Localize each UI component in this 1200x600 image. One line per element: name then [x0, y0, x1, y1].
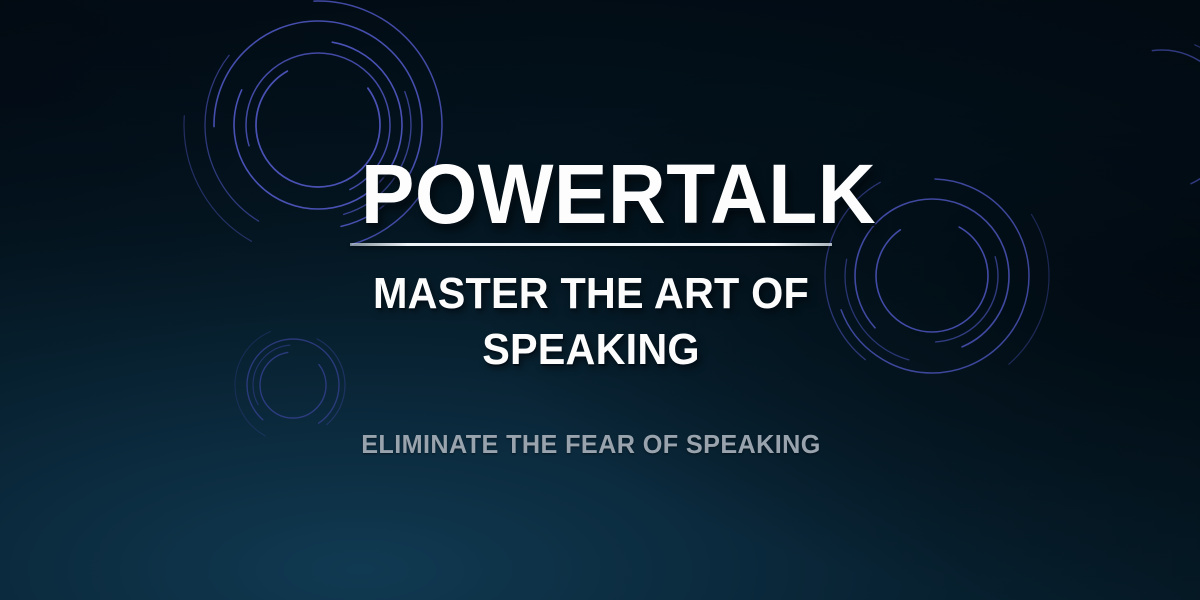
banner-content: POWERTALK MASTER THE ART OF SPEAKING ELI… [0, 0, 1200, 600]
banner-tagline: ELIMINATE THE FEAR OF SPEAKING [338, 428, 844, 460]
title-underline-divider [350, 243, 832, 246]
powertalk-banner: POWERTALK MASTER THE ART OF SPEAKING ELI… [0, 0, 1200, 600]
page-title: POWERTALK [361, 150, 821, 238]
subtitle-line-2: SPEAKING [364, 322, 817, 378]
subtitle-line-1: MASTER THE ART OF [364, 266, 817, 322]
banner-subtitle: MASTER THE ART OF SPEAKING [364, 266, 817, 378]
